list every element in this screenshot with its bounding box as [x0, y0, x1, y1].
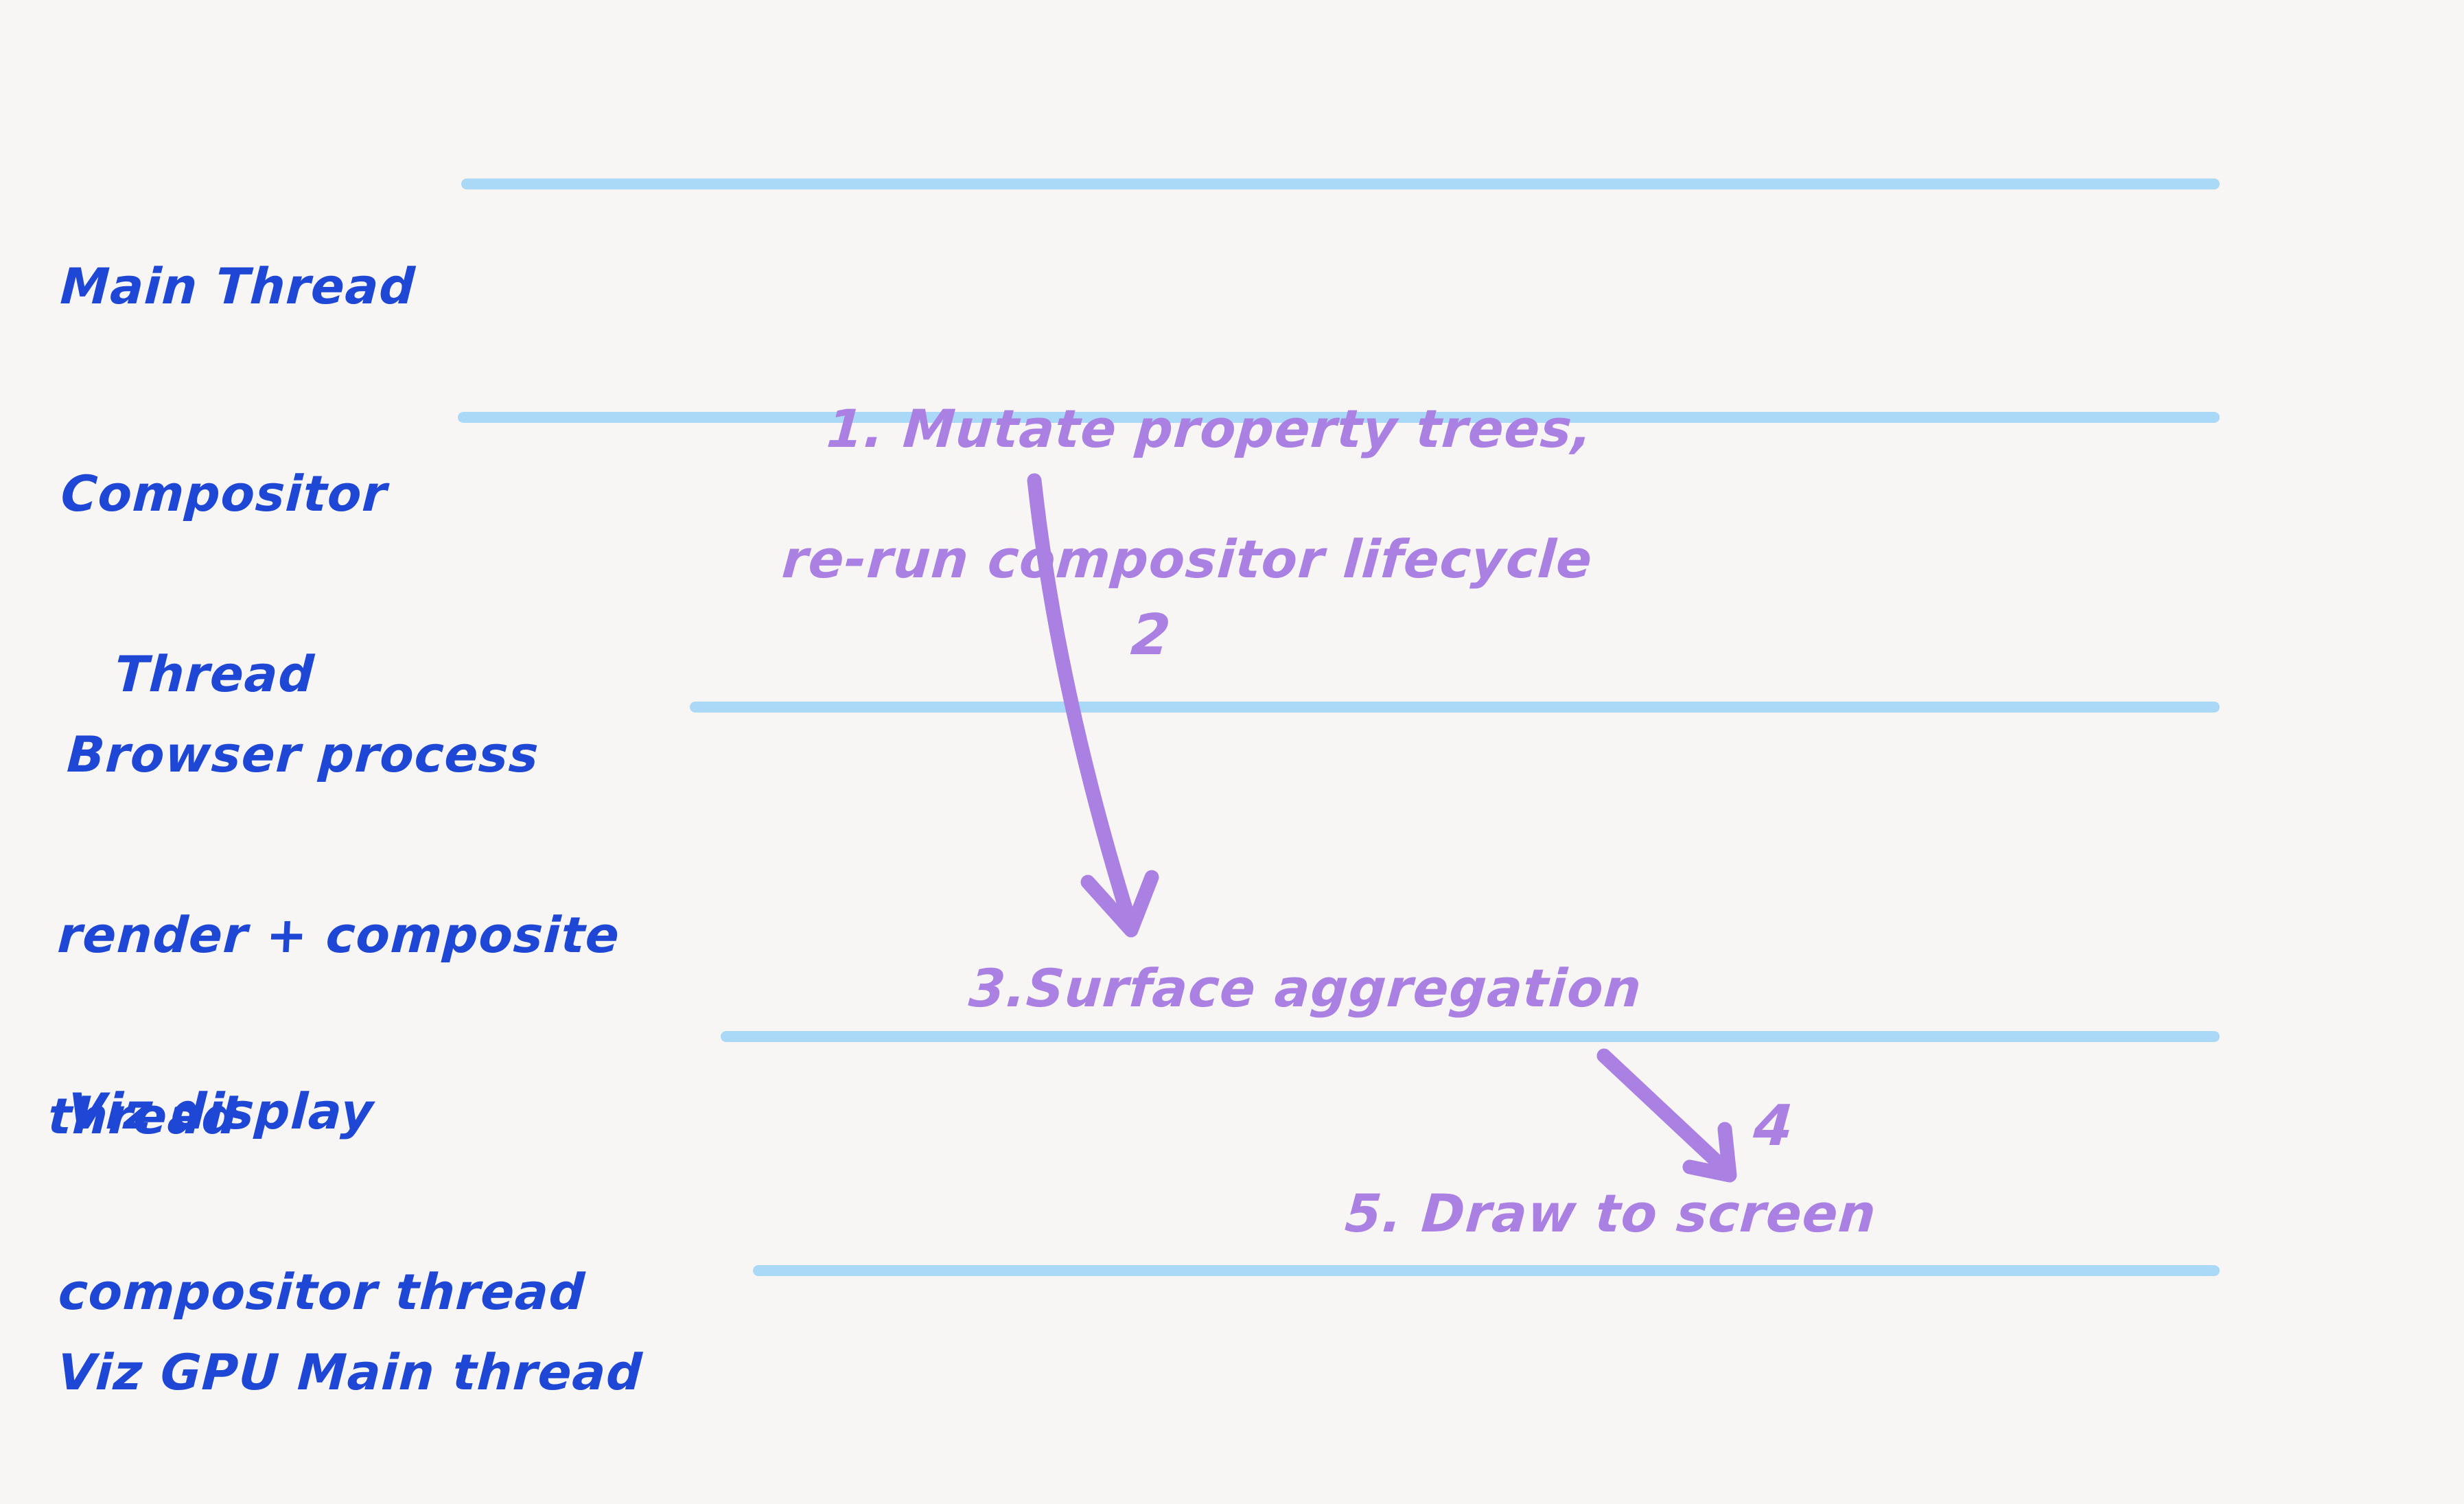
annotation-step-1-line2: re-run compositor lifecycle: [740, 527, 1594, 592]
diagram-canvas: Main Thread Compositor Thread Browser pr…: [0, 0, 2464, 1504]
annotation-step-4: 4: [1752, 1098, 1795, 1155]
lane-line-main-thread: [461, 178, 2220, 189]
annotation-step-1-line1: 1. Mutate property trees,: [825, 398, 1595, 459]
annotation-step-5: 5. Draw to screen: [1343, 1181, 1879, 1246]
lane-label-viz-gpu-main: Viz GPU Main thread: [49, 1222, 650, 1504]
arrow-step-4: [1604, 1056, 1730, 1175]
lane-label-line1: Browser process: [66, 725, 631, 785]
lane-line-viz-display-compositor: [721, 1031, 2220, 1042]
lane-label-line1: Main Thread: [59, 257, 417, 317]
lane-line-viz-gpu-main: [753, 1265, 2220, 1276]
lane-label-line1: Viz display: [67, 1082, 596, 1142]
annotation-step-2: 2: [1129, 608, 1172, 664]
lane-label-line1: Viz GPU Main thread: [56, 1343, 644, 1403]
lane-label-line1: Compositor: [60, 464, 389, 524]
annotation-step-1: 1. Mutate property trees, re-run composi…: [731, 331, 1608, 722]
lane-label-line2: render + composite: [56, 905, 622, 966]
annotation-step-3: 3.Surface aggregation: [967, 956, 1644, 1021]
